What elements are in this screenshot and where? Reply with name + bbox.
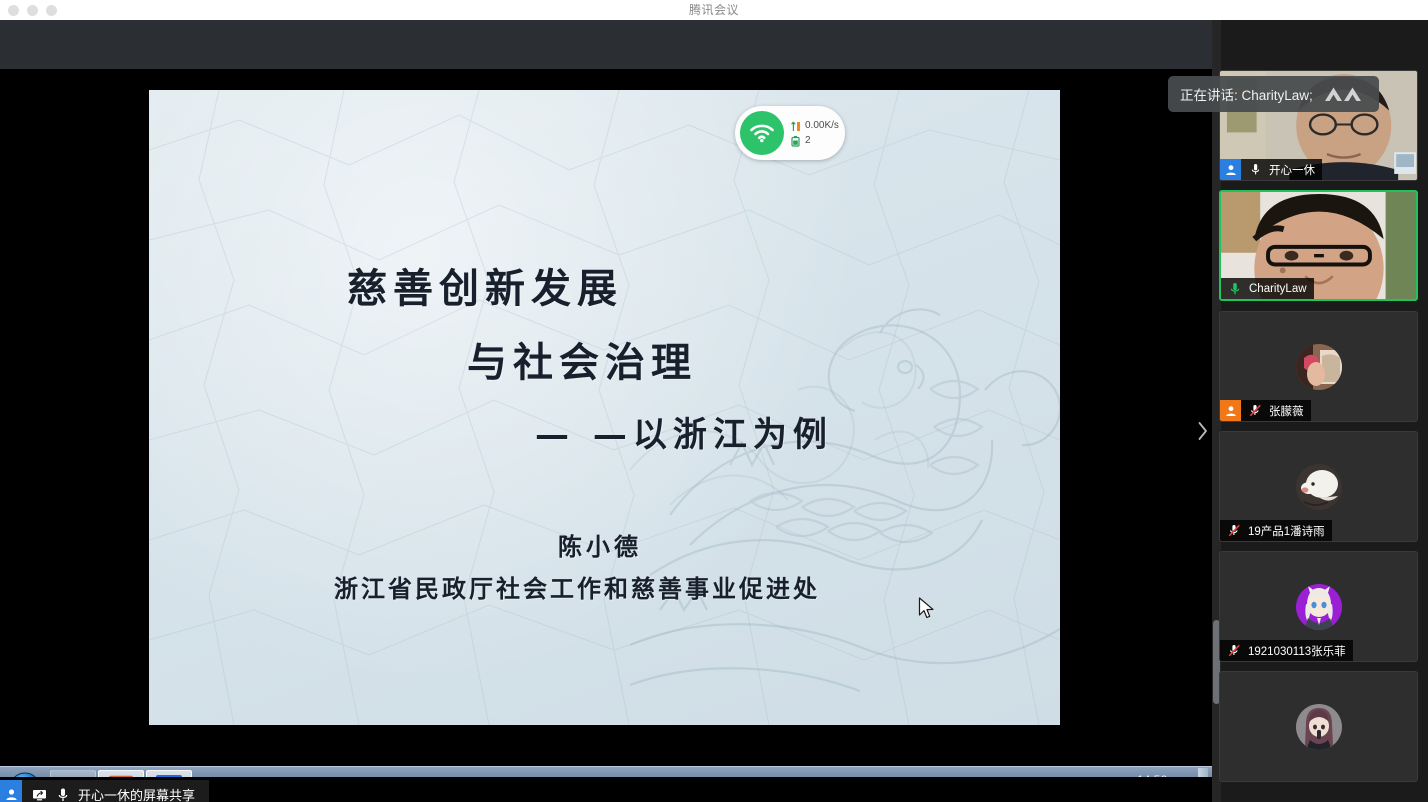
tencent-meeting-logo-icon xyxy=(1323,84,1369,104)
participants-sidebar: 开心一休 xyxy=(1212,20,1428,802)
participant-tile-active[interactable]: CharityLaw xyxy=(1219,190,1418,301)
microphone-muted-icon xyxy=(1225,644,1243,657)
slide-title-line1: 慈善创新发展 xyxy=(347,256,623,314)
participant-tile[interactable]: 张朦薇 xyxy=(1219,311,1418,422)
chevron-right-icon xyxy=(1196,420,1210,442)
network-status-widget[interactable]: 0.00K/s 2 xyxy=(735,106,845,160)
microphone-icon xyxy=(57,787,69,802)
participant-name: 1921030113张乐菲 xyxy=(1248,643,1346,659)
participant-namebar: 张朦薇 xyxy=(1220,400,1311,421)
battery-value: 2 xyxy=(805,135,811,146)
network-speed-row: 0.00K/s xyxy=(791,120,839,132)
wifi-icon xyxy=(740,111,784,155)
anime-girl-avatar-icon xyxy=(1296,704,1342,750)
host-badge-icon xyxy=(1220,400,1241,421)
participant-tile[interactable] xyxy=(1219,671,1418,782)
slide-affiliation: 浙江省民政厅社会工作和慈善事业促进处 xyxy=(334,569,820,604)
microphone-icon xyxy=(1246,163,1264,176)
microphone-muted-icon xyxy=(1225,524,1243,537)
screen-share-chip[interactable]: 开心一休的屏幕共享 xyxy=(0,780,209,802)
participant-namebar: 1921030113张乐菲 xyxy=(1220,640,1353,661)
presentation-slide: 慈善创新发展 与社会治理 — —以浙江为例 陈小德 浙江省民政厅社会工作和慈善事… xyxy=(149,90,1060,725)
network-stats: 0.00K/s 2 xyxy=(791,120,839,147)
participant-namebar: 19产品1潘诗雨 xyxy=(1220,520,1332,541)
meeting-stage: 慈善创新发展 与社会治理 — —以浙江为例 陈小德 浙江省民政厅社会工作和慈善事… xyxy=(0,20,1212,802)
speaking-tooltip-text: 正在讲话: CharityLaw; xyxy=(1180,84,1313,104)
window-title: 腾讯会议 xyxy=(0,0,1428,20)
participant-name: 19产品1潘诗雨 xyxy=(1248,523,1325,539)
microphone-active-icon xyxy=(1226,282,1244,296)
anime-avatar-icon xyxy=(1296,584,1342,630)
participant-tile[interactable]: 19产品1潘诗雨 xyxy=(1219,431,1418,542)
person-icon xyxy=(0,780,22,802)
mouse-cursor-icon xyxy=(918,597,936,621)
host-badge-icon xyxy=(1220,159,1241,180)
participant-name: 张朦薇 xyxy=(1269,403,1304,419)
stage-top-band xyxy=(0,20,1212,69)
shared-desktop[interactable]: 慈善创新发展 与社会治理 — —以浙江为例 陈小德 浙江省民政厅社会工作和慈善事… xyxy=(0,69,1212,777)
participant-namebar: CharityLaw xyxy=(1221,278,1314,299)
participant-tile[interactable]: 1921030113张乐菲 xyxy=(1219,551,1418,662)
participant-namebar: 开心一休 xyxy=(1220,159,1322,180)
meeting-window: 腾讯会议 xyxy=(0,0,1428,802)
screen-share-icon xyxy=(32,788,47,802)
battery-row: 2 xyxy=(791,135,839,147)
slide-text-block: 慈善创新发展 与社会治理 — —以浙江为例 陈小德 浙江省民政厅社会工作和慈善事… xyxy=(149,90,1060,725)
screen-share-bar: 开心一休的屏幕共享 xyxy=(0,777,1212,802)
window-titlebar: 腾讯会议 xyxy=(0,0,1428,20)
microphone-muted-icon xyxy=(1246,404,1264,417)
photo-avatar-icon xyxy=(1296,344,1342,390)
slide-subtitle: — —以浙江为例 xyxy=(535,407,833,456)
participant-name: 开心一休 xyxy=(1269,162,1315,178)
speaking-tooltip: 正在讲话: CharityLaw; xyxy=(1168,76,1379,112)
participant-name: CharityLaw xyxy=(1249,283,1307,295)
network-speed-value: 0.00K/s xyxy=(805,120,839,131)
updown-arrows-icon xyxy=(791,120,801,132)
slide-title-line2: 与社会治理 xyxy=(467,330,697,388)
screen-share-label: 开心一休的屏幕共享 xyxy=(78,785,195,802)
battery-icon xyxy=(791,135,801,147)
collapse-sidebar-button[interactable] xyxy=(1196,420,1210,447)
dog-avatar-icon xyxy=(1296,464,1342,510)
slide-author: 陈小德 xyxy=(558,527,642,562)
